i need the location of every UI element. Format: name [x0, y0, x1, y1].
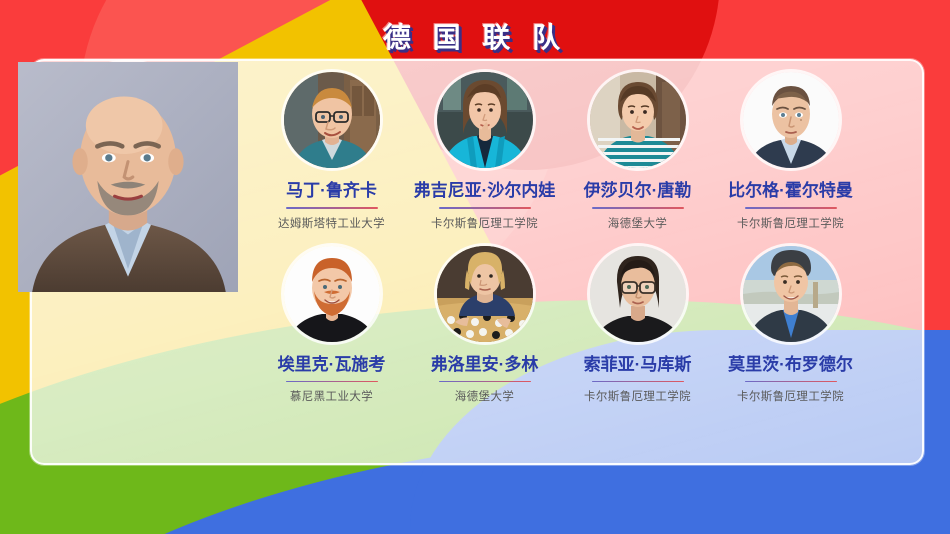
- member-portrait-3-art: [590, 72, 686, 168]
- member-portrait-6-art: [437, 246, 533, 342]
- member-portrait-8-art: [743, 246, 839, 342]
- member-card[interactable]: 莫里茨·布罗德尔 卡尔斯鲁厄理工学院: [714, 246, 867, 405]
- member-avatar: [743, 72, 839, 168]
- member-name: 弗洛里安·多林: [408, 350, 561, 375]
- member-card[interactable]: 马丁·鲁齐卡 达姆斯塔特工业大学: [255, 72, 408, 231]
- member-org: 海德堡大学: [561, 215, 714, 231]
- member-row-1: 马丁·鲁齐卡 达姆斯塔特工业大学: [255, 72, 915, 231]
- member-org: 卡尔斯鲁厄理工学院: [408, 215, 561, 231]
- member-card[interactable]: 索菲亚·马库斯 卡尔斯鲁厄理工学院: [561, 246, 714, 405]
- member-org: 卡尔斯鲁厄理工学院: [561, 388, 714, 404]
- member-divider: [592, 207, 684, 209]
- member-name: 莫里茨·布罗德尔: [714, 350, 867, 375]
- member-avatar: [590, 72, 686, 168]
- member-divider: [745, 207, 837, 209]
- member-portrait-5-art: [284, 246, 380, 342]
- member-portrait-7-art: [590, 246, 686, 342]
- member-name: 伊莎贝尔·唐勒: [561, 176, 714, 201]
- member-card[interactable]: 弗吉尼亚·沙尔内娃 卡尔斯鲁厄理工学院: [408, 72, 561, 231]
- member-divider: [286, 207, 378, 209]
- member-divider: [439, 381, 531, 383]
- member-org: 卡尔斯鲁厄理工学院: [714, 215, 867, 231]
- member-portrait-1-art: [284, 72, 380, 168]
- member-avatar: [284, 246, 380, 342]
- member-portrait-4-art: [743, 72, 839, 168]
- member-divider: [592, 381, 684, 383]
- member-portrait-2-art: [437, 72, 533, 168]
- member-card[interactable]: 伊莎贝尔·唐勒 海德堡大学: [561, 72, 714, 231]
- member-org: 卡尔斯鲁厄理工学院: [714, 388, 867, 404]
- member-divider: [439, 207, 531, 209]
- member-grid: 马丁·鲁齐卡 达姆斯塔特工业大学: [255, 72, 915, 404]
- leader-block: 领 队 比勒 · 威廉: [18, 62, 238, 292]
- member-row-2: 埃里克·瓦施考 慕尼黑工业大学: [255, 246, 915, 405]
- member-divider: [745, 381, 837, 383]
- member-card[interactable]: 比尔格·霍尔特曼 卡尔斯鲁厄理工学院: [714, 72, 867, 231]
- member-avatar: [437, 72, 533, 168]
- member-card[interactable]: 埃里克·瓦施考 慕尼黑工业大学: [255, 246, 408, 405]
- leader-portrait-art: [68, 62, 188, 182]
- member-org: 慕尼黑工业大学: [255, 388, 408, 404]
- page-title-text: 德 国 联 队: [383, 16, 567, 56]
- member-card[interactable]: 弗洛里安·多林 海德堡大学: [408, 246, 561, 405]
- member-avatar: [590, 246, 686, 342]
- member-name: 弗吉尼亚·沙尔内娃: [408, 176, 561, 201]
- member-avatar: [284, 72, 380, 168]
- member-org: 达姆斯塔特工业大学: [255, 215, 408, 231]
- member-org: 海德堡大学: [408, 388, 561, 404]
- member-name: 索菲亚·马库斯: [561, 350, 714, 375]
- member-name: 马丁·鲁齐卡: [255, 176, 408, 201]
- member-avatar: [437, 246, 533, 342]
- page-title: 德 国 联 队: [0, 16, 950, 56]
- member-divider: [286, 381, 378, 383]
- leader-avatar: [68, 62, 188, 182]
- slide-root: 德 国 联 队: [0, 0, 950, 534]
- member-name: 埃里克·瓦施考: [255, 350, 408, 375]
- member-name: 比尔格·霍尔特曼: [714, 176, 867, 201]
- member-avatar: [743, 246, 839, 342]
